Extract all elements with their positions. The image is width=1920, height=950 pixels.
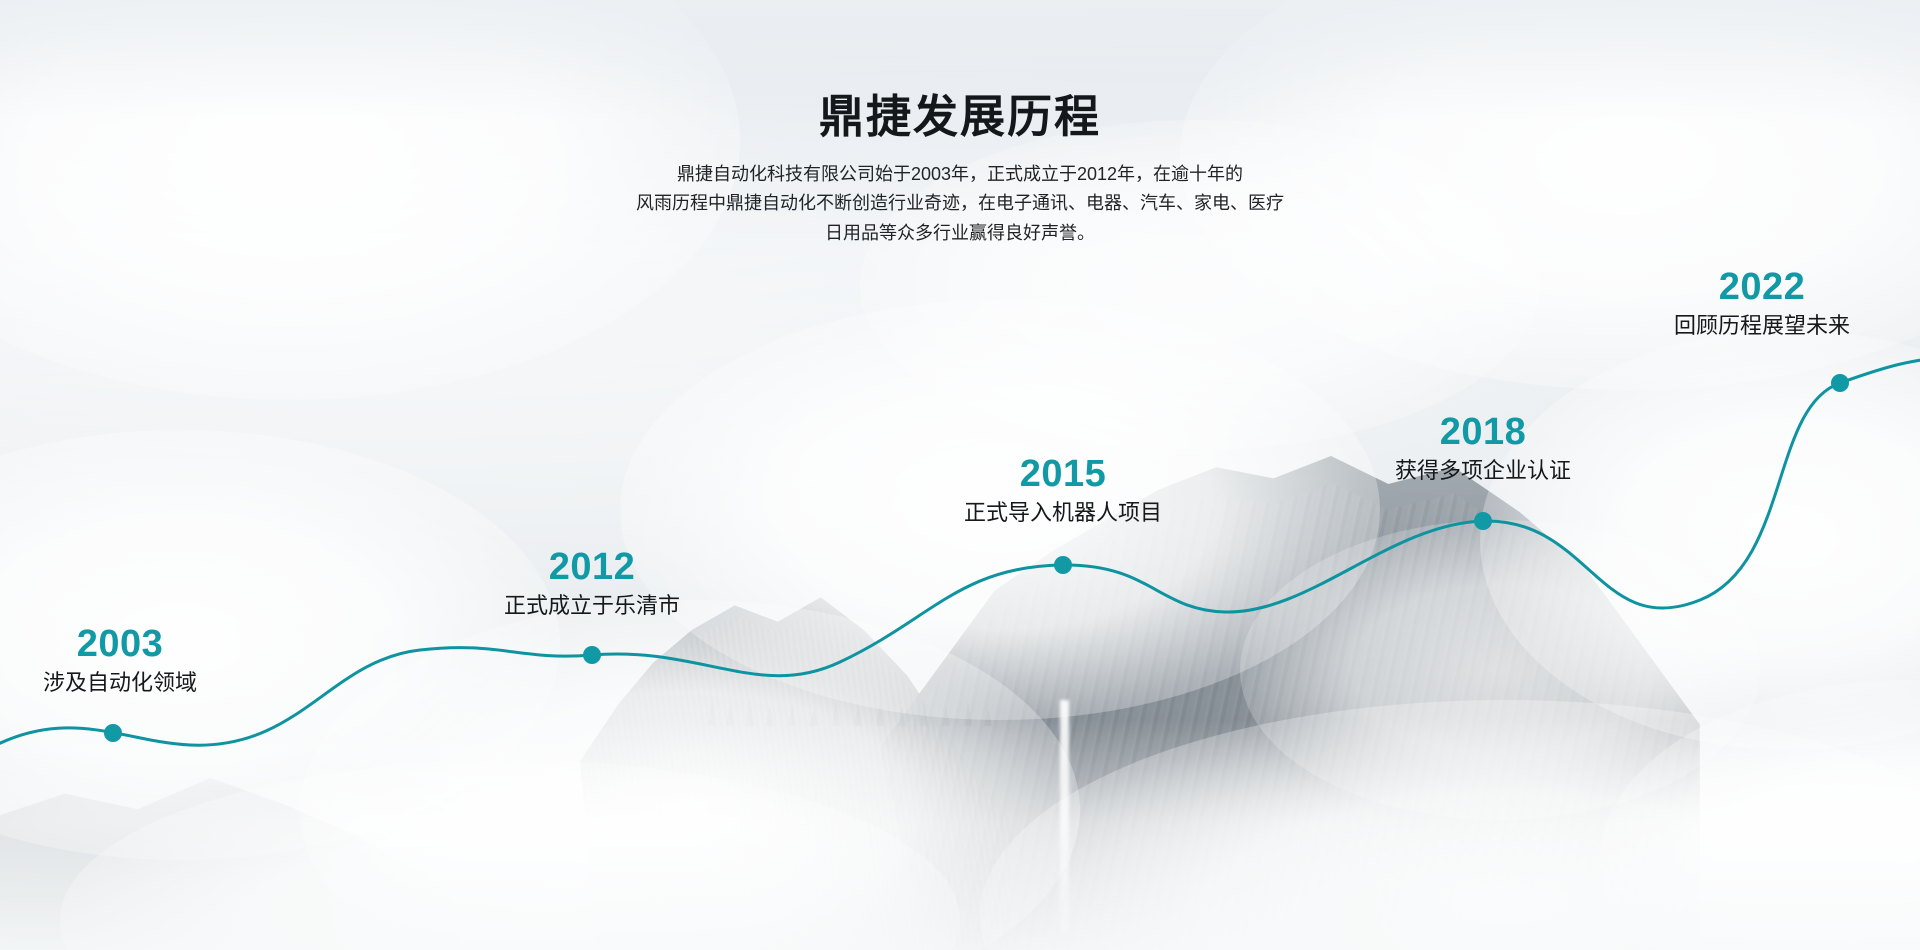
milestone-2022[interactable]: 2022回顾历程展望未来 xyxy=(1674,268,1850,339)
milestone-caption: 涉及自动化领域 xyxy=(43,669,197,697)
header: 鼎捷发展历程 鼎捷自动化科技有限公司始于2003年，正式成立于2012年，在逾十… xyxy=(0,92,1920,249)
milestone-year: 2018 xyxy=(1395,413,1571,453)
page-title: 鼎捷发展历程 xyxy=(0,92,1920,142)
timeline-dot-2015[interactable] xyxy=(1054,556,1072,574)
page-description-line: 鼎捷自动化科技有限公司始于2003年，正式成立于2012年，在逾十年的 xyxy=(560,160,1360,190)
milestone-year: 2012 xyxy=(504,548,680,588)
timeline-dot-2022[interactable] xyxy=(1831,374,1849,392)
timeline-dot-2012[interactable] xyxy=(583,646,601,664)
milestone-2012[interactable]: 2012正式成立于乐清市 xyxy=(504,548,680,619)
milestone-caption: 正式成立于乐清市 xyxy=(504,592,680,620)
page-description-line: 风雨历程中鼎捷自动化不断创造行业奇迹，在电子通讯、电器、汽车、家电、医疗 xyxy=(560,189,1360,219)
milestone-2015[interactable]: 2015正式导入机器人项目 xyxy=(964,455,1162,526)
milestone-year: 2015 xyxy=(964,455,1162,495)
milestone-year: 2022 xyxy=(1674,268,1850,308)
timeline-infographic: 鼎捷发展历程 鼎捷自动化科技有限公司始于2003年，正式成立于2012年，在逾十… xyxy=(0,0,1920,950)
timeline-path xyxy=(0,355,1920,760)
milestone-2018[interactable]: 2018获得多项企业认证 xyxy=(1395,413,1571,484)
timeline-dot-group xyxy=(104,374,1849,742)
page-description-line: 日用品等众多行业赢得良好声誉。 xyxy=(560,219,1360,249)
timeline-dot-2003[interactable] xyxy=(104,724,122,742)
timeline-dot-2018[interactable] xyxy=(1474,512,1492,530)
milestone-caption: 正式导入机器人项目 xyxy=(964,499,1162,527)
milestone-caption: 获得多项企业认证 xyxy=(1395,457,1571,485)
milestone-caption: 回顾历程展望未来 xyxy=(1674,312,1850,340)
milestone-2003[interactable]: 2003涉及自动化领域 xyxy=(43,625,197,696)
milestone-year: 2003 xyxy=(43,625,197,665)
page-description: 鼎捷自动化科技有限公司始于2003年，正式成立于2012年，在逾十年的 风雨历程… xyxy=(560,160,1360,250)
